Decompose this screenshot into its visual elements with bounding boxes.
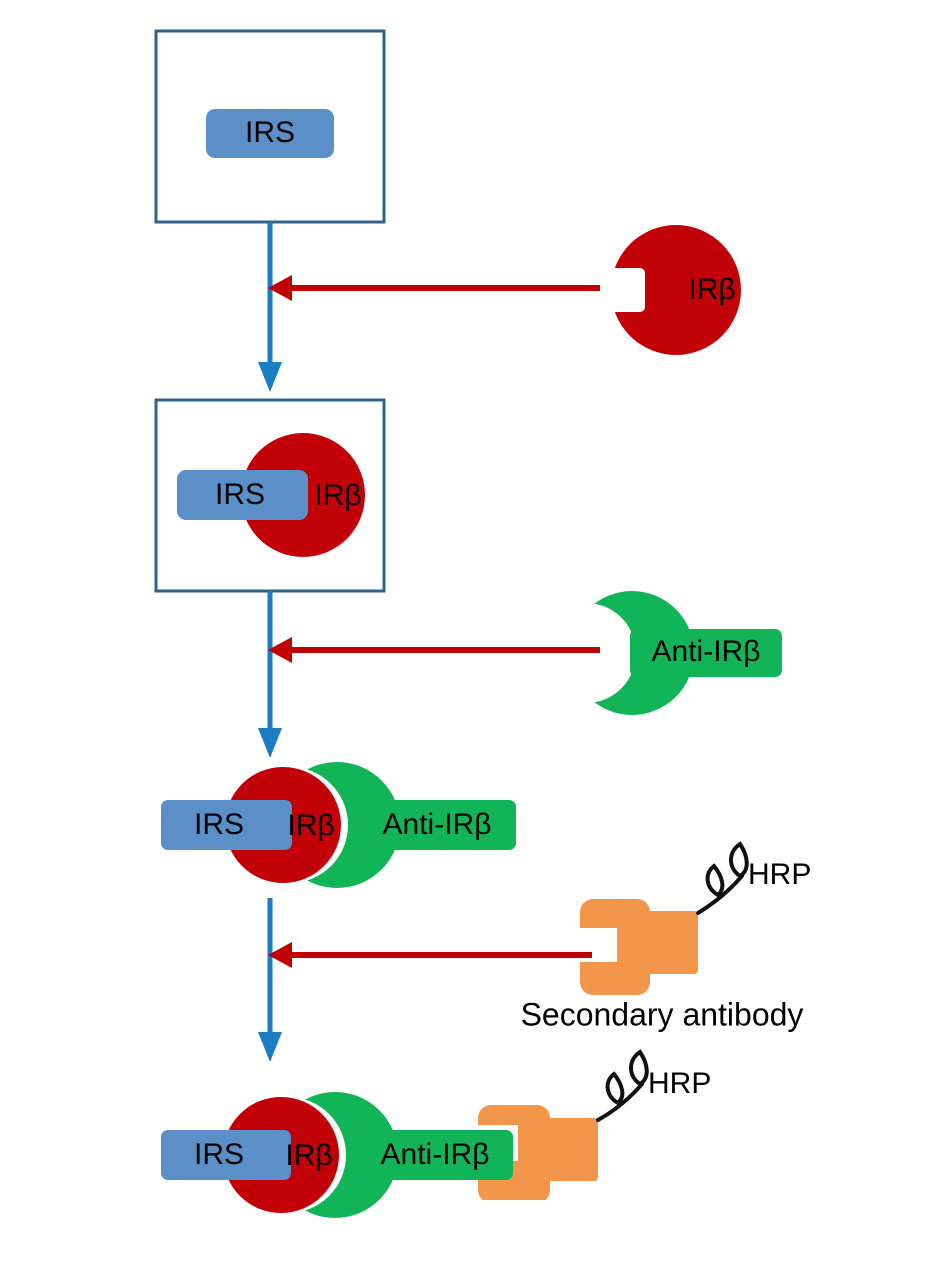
- add-arrow-irb: [268, 275, 600, 301]
- hrp-leaf-upper-step-4: [631, 1052, 647, 1084]
- hrp-leaf-lower-step-4: [608, 1074, 623, 1103]
- secondary-antibody-caption: Secondary antibody: [521, 996, 804, 1032]
- elisa-schematic-svg: IRS IRβ IRβ IRS: [0, 0, 934, 1272]
- add-arrow-secondary-antibody: [268, 942, 592, 968]
- add-arrow-anti-irb: [268, 637, 600, 663]
- hrp-leaf-upper-free: [731, 844, 747, 876]
- step-1-well: IRS: [156, 31, 384, 222]
- irs-label-step-2: IRS: [215, 478, 265, 511]
- irb-label-step-4: IRβ: [285, 1139, 332, 1172]
- diagram-canvas: IRS IRβ IRβ IRS: [0, 0, 934, 1272]
- flow-arrow-2: [258, 591, 282, 758]
- hrp-label-step-4: HRP: [648, 1067, 711, 1100]
- secondary-antibody-body-free: [632, 911, 698, 974]
- flow-arrow-1: [258, 222, 282, 392]
- anti-irb-label-free: Anti-IRβ: [652, 635, 761, 668]
- irs-label-step-4: IRS: [194, 1138, 244, 1171]
- irs-label-step-1: IRS: [245, 116, 295, 149]
- step-3-complex: IRS IRβ Anti-IRβ: [161, 762, 516, 888]
- anti-irb-label-step-4: Anti-IRβ: [381, 1138, 490, 1171]
- hrp-label-free: HRP: [748, 858, 811, 891]
- step-2-well: IRβ IRS: [156, 400, 384, 591]
- reagent-secondary-antibody-free: HRP Secondary antibody: [521, 844, 812, 1032]
- secondary-antibody-body-step-4: [532, 1118, 598, 1181]
- irs-label-step-3: IRS: [194, 808, 244, 841]
- reagent-irb-free: IRβ: [611, 225, 741, 355]
- step-4-complex: IRS IRβ Anti-IRβ HRP: [161, 1052, 711, 1218]
- anti-irb-label-step-3: Anti-IRβ: [383, 808, 492, 841]
- irb-label-step-3: IRβ: [287, 809, 334, 842]
- irb-label-step-2: IRβ: [314, 479, 361, 512]
- flow-arrow-3: [258, 898, 282, 1062]
- hrp-leaf-lower-free: [708, 866, 723, 895]
- irb-label-free: IRβ: [688, 273, 735, 306]
- reagent-anti-irb-free: Anti-IRβ: [570, 591, 782, 715]
